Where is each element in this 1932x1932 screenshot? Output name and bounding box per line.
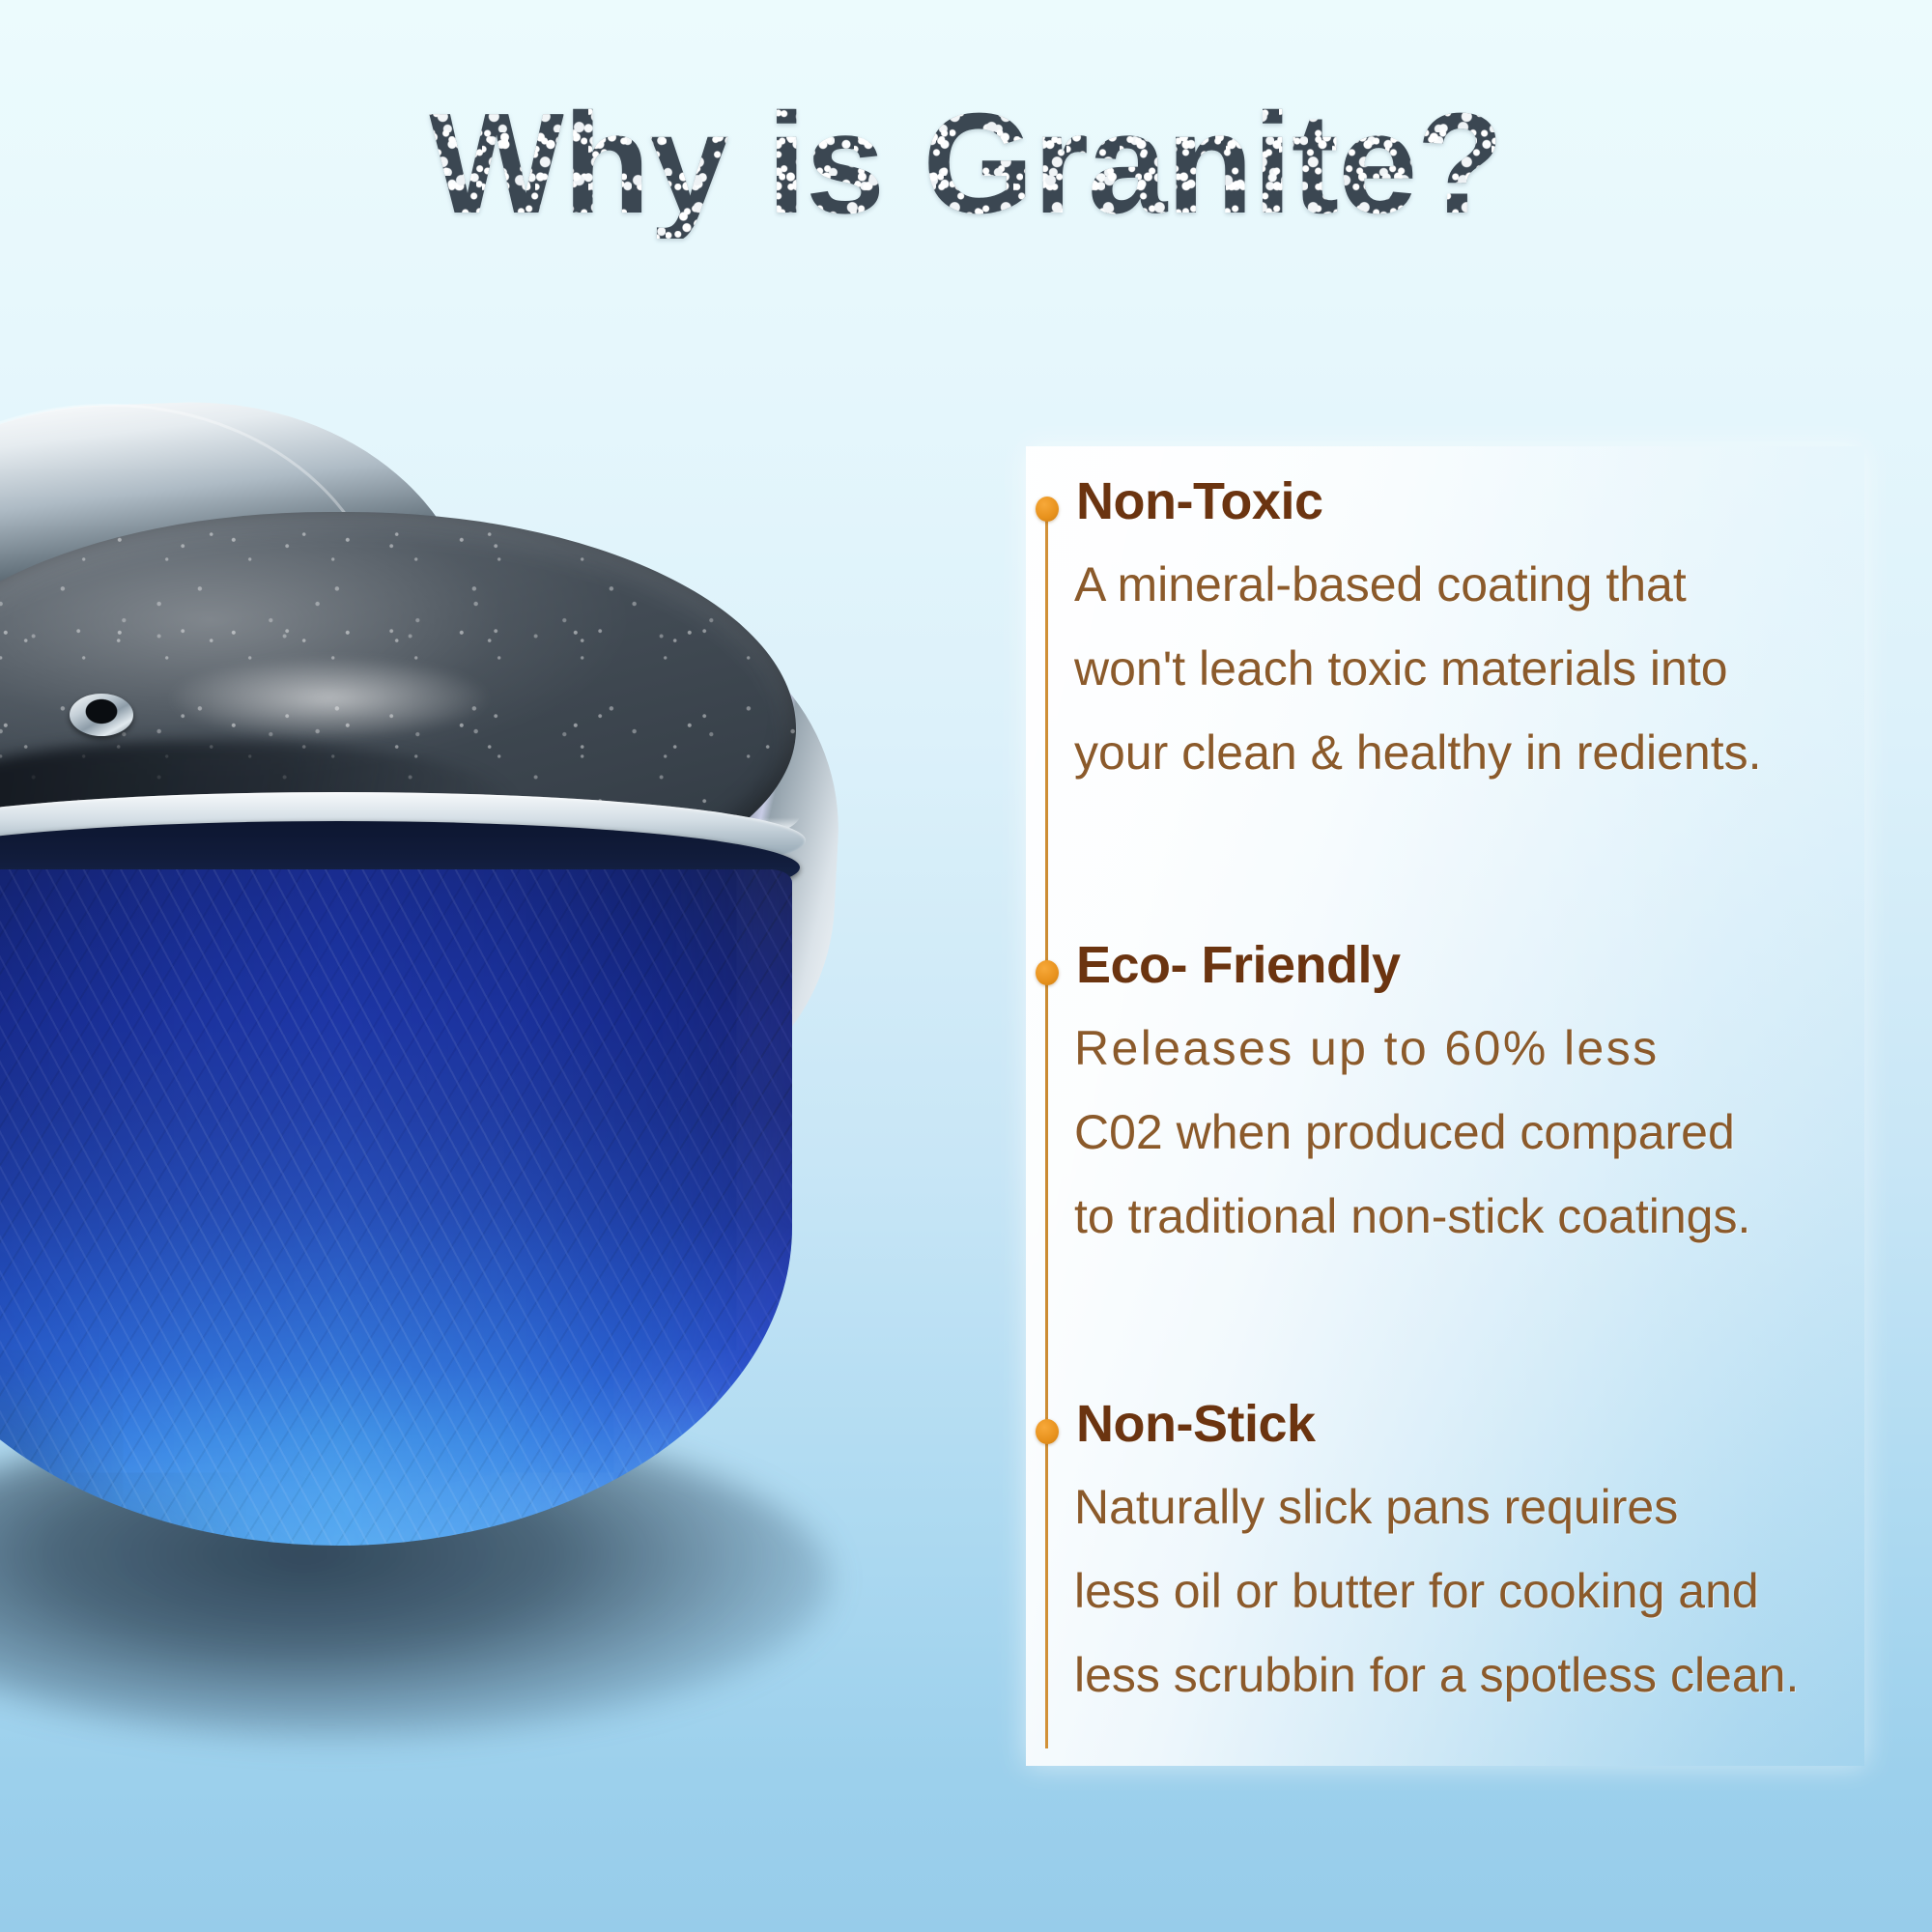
lid-gloss-highlight [170,657,489,740]
feature-title: Eco- Friendly [1076,935,1401,995]
bullet-dot-icon [1036,960,1059,985]
feature-line: won't leach toxic materials into [1074,627,1859,711]
product-image-cookware-pot [0,367,908,1816]
feature-line: less scrubbin for a spotless clean. [1074,1634,1859,1718]
bullet-dot-icon [1036,497,1059,522]
feature-title: Non-Stick [1076,1394,1316,1454]
pot-hammered-texture [0,869,792,1546]
page-title-container: Why is Granite? [0,89,1932,239]
feature-line: less oil or butter for cooking and [1074,1549,1859,1634]
feature-line: Naturally slick pans requires [1074,1465,1859,1549]
feature-title: Non-Toxic [1076,471,1322,531]
features-timeline-line [1045,502,1048,1748]
feature-line: Releases up to 60% less [1074,1007,1859,1091]
feature-description: A mineral-based coating that won't leach… [1074,543,1859,795]
infographic-canvas: Why is Granite? [0,0,1932,1932]
feature-line: your clean & healthy in redients. [1074,711,1859,795]
page-title: Why is Granite? [429,89,1503,239]
feature-line: A mineral-based coating that [1074,543,1859,627]
feature-description: Releases up to 60% less C02 when produce… [1074,1007,1859,1259]
pot-body [0,869,792,1546]
feature-line: to traditional non-stick coatings. [1074,1175,1859,1259]
feature-line: C02 when produced compared [1074,1091,1859,1175]
bullet-dot-icon [1036,1419,1059,1444]
steam-vent-icon [70,694,133,736]
feature-description: Naturally slick pans requires less oil o… [1074,1465,1859,1718]
features-panel: Non-Toxic A mineral-based coating that w… [1026,446,1864,1766]
